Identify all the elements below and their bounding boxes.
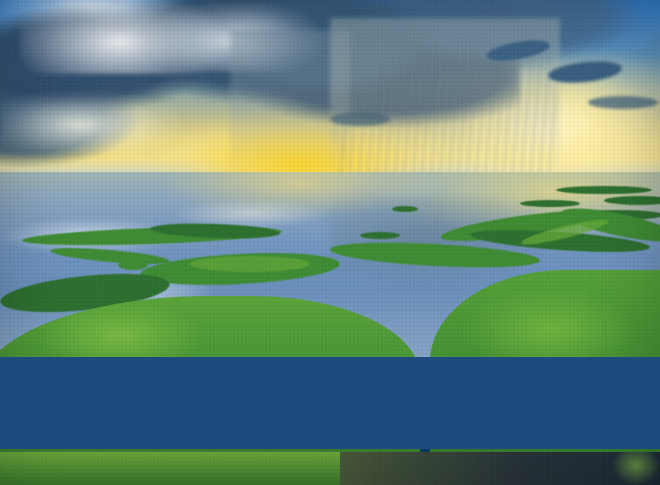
title-banner: COASTAL & HEARTLAND NATIONAL ESTUARY PAR… (0, 357, 660, 449)
report-cover: COASTAL & HEARTLAND NATIONAL ESTUARY PAR… (0, 0, 660, 485)
